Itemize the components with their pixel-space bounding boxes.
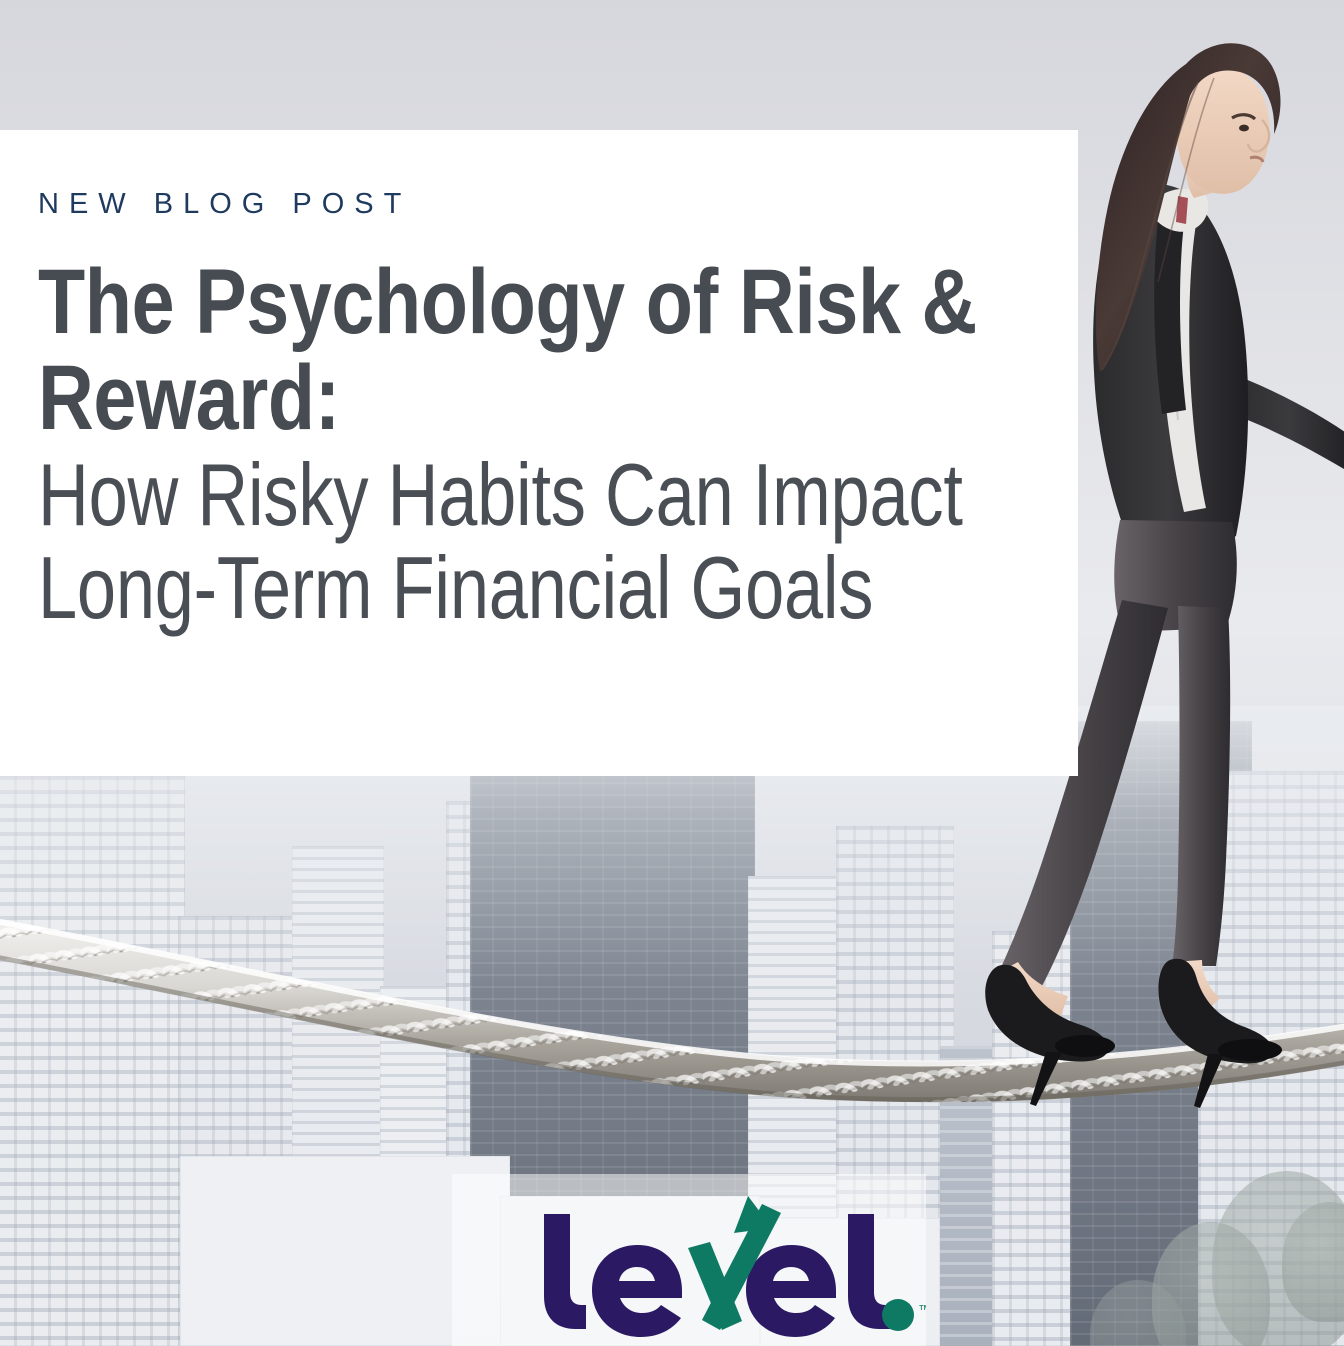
text-panel: NEW BLOG POST The Psychology of Risk & R… — [0, 130, 1078, 776]
eyebrow-label: NEW BLOG POST — [38, 190, 1038, 219]
level-coaching-logo-icon: ™ Coaching — [452, 1196, 926, 1346]
logo-period-dot — [882, 1299, 914, 1331]
trademark-mark: ™ — [918, 1302, 926, 1317]
headline-line-1: The Psychology of Risk & — [38, 257, 1038, 347]
subheadline-line-2: Long-Term Financial Goals — [38, 542, 1038, 634]
subheadline-line-1: How Risky Habits Can Impact — [38, 449, 1038, 541]
headline-line-2: Reward: — [38, 353, 1038, 443]
brand-logo[interactable]: ™ Coaching level Coaching ™ — [452, 1196, 926, 1346]
promo-graphic-canvas: NEW BLOG POST The Psychology of Risk & R… — [0, 0, 1344, 1346]
